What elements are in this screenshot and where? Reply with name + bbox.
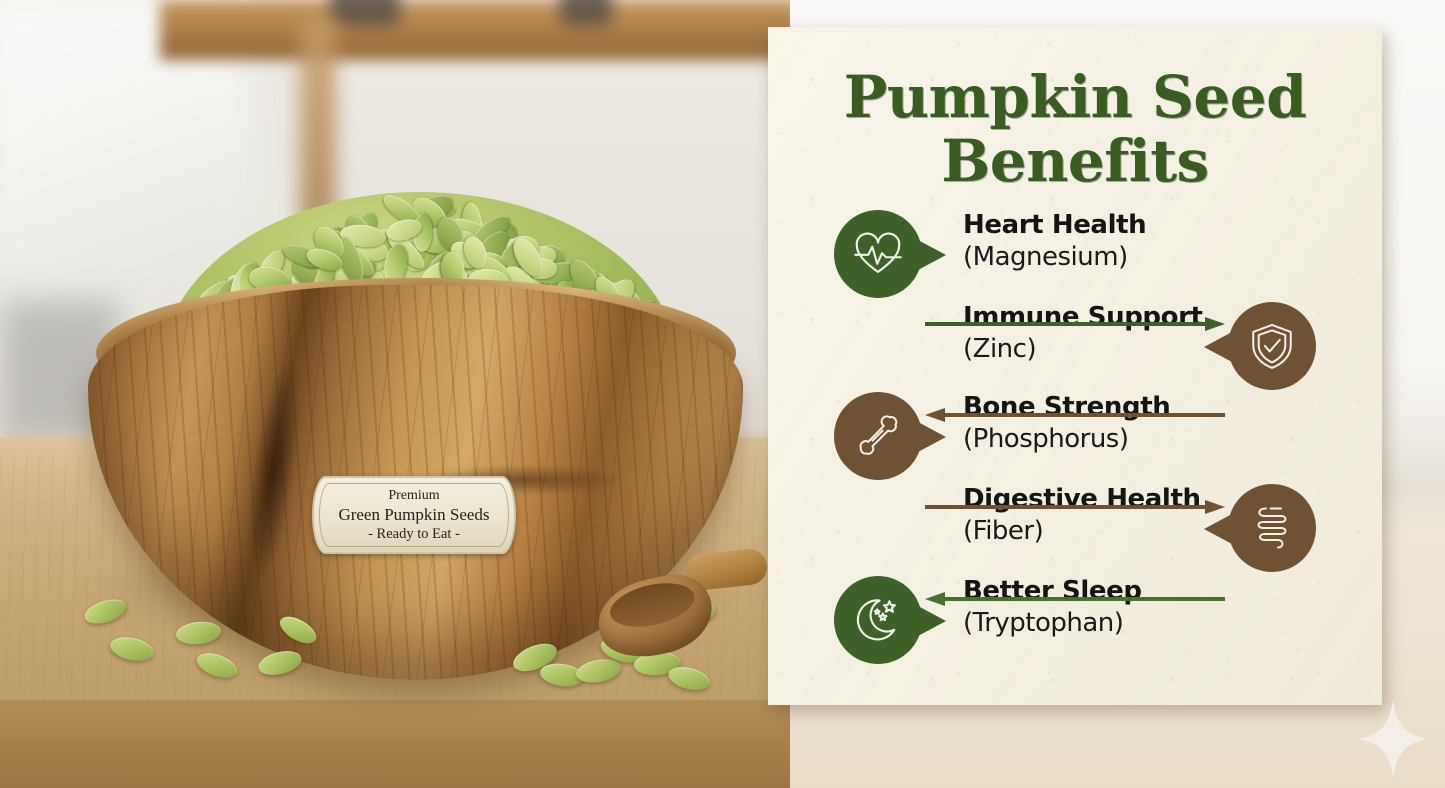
benefit-nutrient: (Phosphorus) [963,423,1170,455]
page-title: Pumpkin Seed Benefits [768,65,1382,193]
flow-arrow-right [925,500,1225,514]
benefit-badge-moon-stars[interactable] [834,576,922,664]
flow-arrow-left [925,592,1225,606]
benefit-badge-shield-check[interactable] [1228,302,1316,390]
arrow-line [925,322,1207,326]
shelf-jar [330,0,400,26]
benefit-title: Heart Health [963,210,1146,241]
arrow-head [1205,500,1225,514]
kitchen-shelf [160,0,790,60]
arrow-head [925,408,945,422]
benefit-nutrient: (Tryptophan) [963,607,1142,639]
benefit-row[interactable]: Immune Support(Zinc) [768,302,1382,374]
benefit-row[interactable]: Heart Health(Magnesium) [768,210,1382,282]
benefit-nutrient: (Magnesium) [963,241,1146,273]
counter-front-edge [0,700,790,788]
product-photo: Premium Green Pumpkin Seeds - Ready to E… [0,0,790,788]
badge-pointer [1204,332,1232,362]
page-title-line2: Benefits [768,129,1382,193]
flow-arrow-left [925,408,1225,422]
arrow-line [925,505,1207,509]
arrow-line [943,413,1225,417]
benefit-badge-heart-pulse[interactable] [834,210,922,298]
bone-icon [853,411,903,461]
benefit-text: Digestive Health(Fiber) [963,484,1201,547]
badge-pointer [1204,514,1232,544]
benefit-row[interactable]: Digestive Health(Fiber) [768,484,1382,556]
benefit-nutrient: (Fiber) [963,515,1201,547]
sparkle-icon [1358,700,1428,778]
page-title-line1: Pumpkin Seed [768,65,1382,129]
shelf-jar [560,0,612,26]
benefit-nutrient: (Zinc) [963,333,1203,365]
badge-pointer [918,240,946,270]
product-label-line3: - Ready to Eat - [368,525,460,544]
shield-check-icon [1247,321,1297,371]
product-label-plaque: Premium Green Pumpkin Seeds - Ready to E… [312,476,516,554]
benefit-text: Better Sleep(Tryptophan) [963,576,1142,639]
benefit-text: Heart Health(Magnesium) [963,210,1146,273]
badge-pointer [918,606,946,636]
arrow-line [943,597,1225,601]
benefit-badge-intestines[interactable] [1228,484,1316,572]
arrow-head [1205,317,1225,331]
benefits-panel: Pumpkin Seed Benefits Heart Health(Magne… [768,27,1382,705]
product-label-line1: Premium [388,487,439,504]
product-label-line2: Green Pumpkin Seeds [338,504,489,525]
benefit-row[interactable]: Bone Strength(Phosphorus) [768,392,1382,464]
benefit-row[interactable]: Better Sleep(Tryptophan) [768,576,1382,648]
badge-pointer [918,422,946,452]
moon-stars-icon [852,594,904,646]
benefit-badge-bone[interactable] [834,392,922,480]
arrow-head [925,592,945,606]
benefits-list: Heart Health(Magnesium)Immune Support(Zi… [768,210,1382,680]
kitchen-cabinet-post [300,18,336,228]
infographic-canvas: Premium Green Pumpkin Seeds - Ready to E… [0,0,1445,788]
intestines-icon [1248,504,1296,552]
flow-arrow-right [925,317,1225,331]
benefit-text: Bone Strength(Phosphorus) [963,392,1170,455]
heart-pulse-icon [852,228,904,280]
benefit-text: Immune Support(Zinc) [963,302,1203,365]
